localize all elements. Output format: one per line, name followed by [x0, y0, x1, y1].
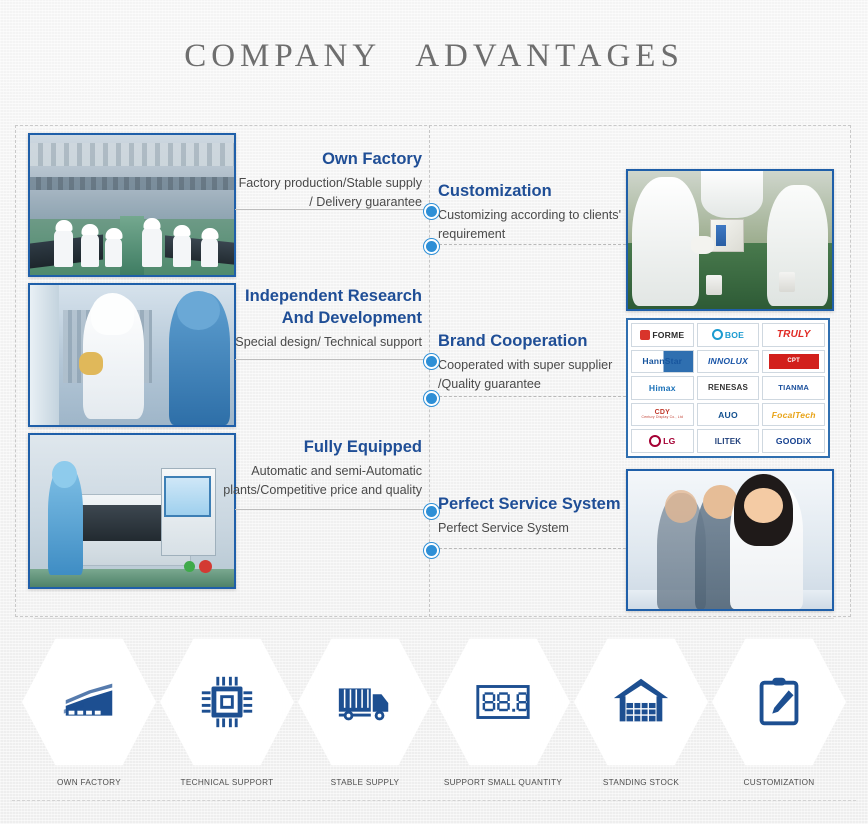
feature-label-support-small-quantity: SUPPORT SMALL QUANTITY — [436, 778, 570, 787]
feature-label-technical-support: TECHNICAL SUPPORT — [160, 778, 294, 787]
factory-building-icon — [58, 671, 120, 733]
connector-line-2 — [235, 359, 429, 360]
feature-own-factory[interactable] — [22, 636, 156, 768]
forme-mark-icon — [640, 330, 650, 340]
advantage-title-line2: And Development — [196, 307, 422, 329]
advantage-desc-line2: /Quality guarantee — [438, 375, 638, 394]
feature-label-own-factory: OWN FACTORY — [22, 778, 156, 787]
advantage-desc-line2: plants/Competitive price and quality — [196, 481, 422, 500]
logo-innolux: INNOLUX — [697, 350, 760, 374]
timeline-node-2[interactable] — [424, 239, 439, 254]
feature-label-row: OWN FACTORY TECHNICAL SUPPORT STABLE SUP… — [22, 778, 846, 787]
timeline-node-4[interactable] — [424, 391, 439, 406]
feature-hex-row — [22, 636, 846, 768]
logo-cpt: CPT — [762, 350, 825, 374]
photo-service-team — [626, 469, 834, 611]
boe-mark-icon — [712, 329, 723, 340]
advantage-desc-line2: requirement — [438, 225, 638, 244]
connector-dash-1 — [434, 244, 626, 245]
logo-himax: Himax — [631, 376, 694, 400]
feature-support-small-quantity[interactable] — [436, 636, 570, 768]
lg-mark-icon — [649, 435, 661, 447]
warehouse-icon — [610, 671, 672, 733]
logo-ilitek: ILITEK — [697, 429, 760, 453]
advantage-title: Brand Cooperation — [438, 330, 638, 352]
feature-label-customization: CUSTOMIZATION — [712, 778, 846, 787]
logo-tianma: TIANMA — [762, 376, 825, 400]
advantage-title: Fully Equipped — [196, 436, 422, 458]
advantage-desc-line1: Customizing according to clients' — [438, 206, 638, 225]
feature-stable-supply[interactable] — [298, 636, 432, 768]
logo-goodix: GOODiX — [762, 429, 825, 453]
clipboard-pen-icon — [748, 671, 810, 733]
connector-dash-3 — [434, 548, 626, 549]
microchip-icon — [196, 671, 258, 733]
section-divider — [34, 618, 834, 619]
advantage-perfect-service-system: Perfect Service System Perfect Service S… — [438, 493, 648, 538]
feature-label-stable-supply: STABLE SUPPLY — [298, 778, 432, 787]
logo-forme: FORME — [631, 323, 694, 347]
advantage-title: Perfect Service System — [438, 493, 648, 515]
advantage-desc-line1: Factory production/Stable supply — [200, 174, 422, 193]
logo-truly: TRULY — [762, 323, 825, 347]
bottom-dashed-line — [12, 800, 856, 801]
connector-line-3 — [235, 509, 429, 510]
timeline-node-1[interactable] — [424, 204, 439, 219]
timeline-node-3[interactable] — [424, 354, 439, 369]
advantage-brand-cooperation: Brand Cooperation Cooperated with super … — [438, 330, 638, 394]
company-advantages-page: COMPANYADVANTAGES — [0, 0, 868, 824]
connector-line-1 — [235, 209, 429, 210]
page-title: COMPANYADVANTAGES — [0, 38, 868, 75]
page-title-part1: COMPANY — [184, 38, 381, 75]
advantage-title-line1: Independent Research — [196, 285, 422, 307]
feature-standing-stock[interactable] — [574, 636, 708, 768]
advantage-independent-research: Independent Research And Development Spe… — [196, 285, 422, 352]
feature-technical-support[interactable] — [160, 636, 294, 768]
page-title-part2: ADVANTAGES — [415, 38, 684, 75]
logo-focaltech: FocalTech — [762, 403, 825, 427]
advantage-desc-line1: Special design/ Technical support — [196, 333, 422, 352]
delivery-truck-icon — [334, 671, 396, 733]
feature-customization[interactable] — [712, 636, 846, 768]
timeline-node-5[interactable] — [424, 504, 439, 519]
advantage-desc-line1: Perfect Service System — [438, 519, 648, 538]
advantage-title: Own Factory — [200, 148, 422, 170]
photo-customization — [626, 169, 834, 311]
advantage-own-factory: Own Factory Factory production/Stable su… — [200, 148, 422, 212]
logo-hannstar: HannStar — [631, 350, 694, 374]
feature-label-standing-stock: STANDING STOCK — [574, 778, 708, 787]
timeline-node-6[interactable] — [424, 543, 439, 558]
advantage-customization: Customization Customizing according to c… — [438, 180, 638, 244]
logo-cdy: CDYCentury Display Co., Ltd — [631, 403, 694, 427]
digital-display-icon — [472, 671, 534, 733]
logo-renesas: RENESAS — [697, 376, 760, 400]
connector-dash-2 — [434, 396, 626, 397]
advantage-fully-equipped: Fully Equipped Automatic and semi-Automa… — [196, 436, 422, 500]
brand-logo-grid: FORME BOE TRULY HannStar INNOLUX CPT Him… — [626, 318, 830, 458]
logo-boe: BOE — [697, 323, 760, 347]
advantage-title: Customization — [438, 180, 638, 202]
logo-lg: LG — [631, 429, 694, 453]
advantage-desc-line1: Cooperated with super supplier — [438, 356, 638, 375]
logo-auo: AUO — [697, 403, 760, 427]
advantage-desc-line1: Automatic and semi-Automatic — [196, 462, 422, 481]
